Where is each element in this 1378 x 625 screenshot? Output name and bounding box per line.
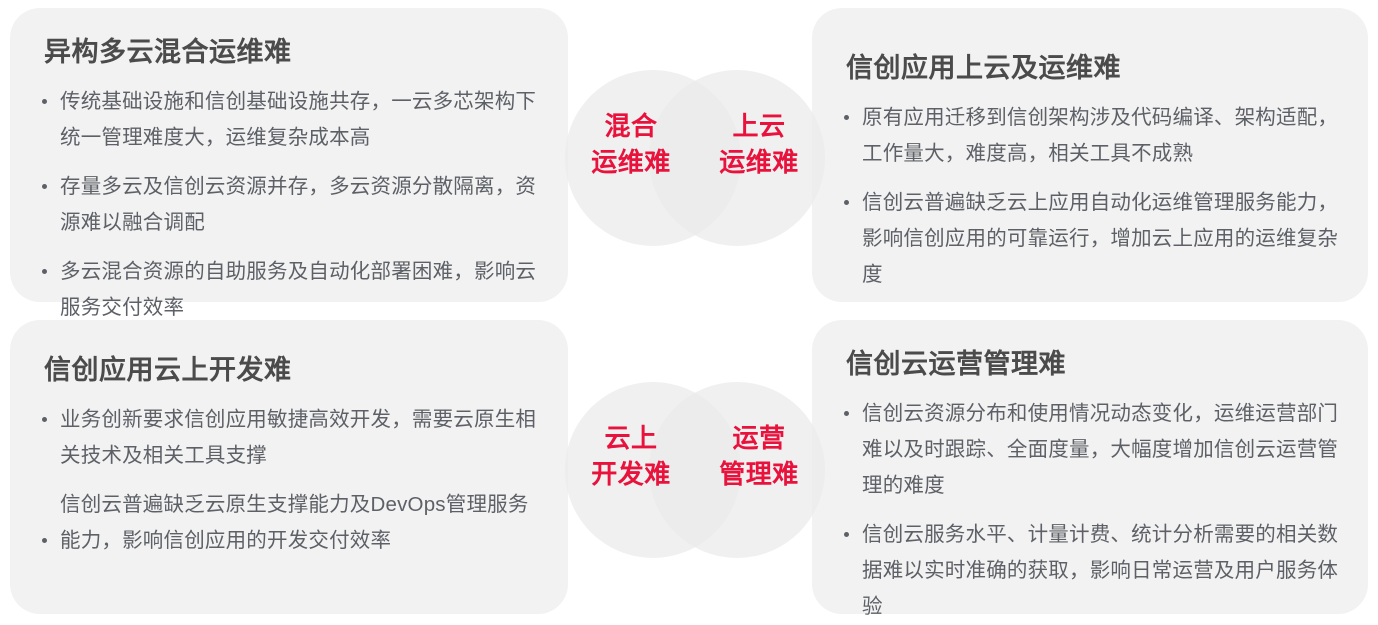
list-item-text: 信创云服务水平、计量计费、统计分析需要的相关数据难以实时准确的获取，影响日常运营… [862,523,1338,618]
list-item: 存量多云及信创云资源并存，多云资源分散隔离，资源难以融合调配 [38,169,546,241]
list-item-text: 业务创新要求信创应用敏捷高效开发，需要云原生相关技术及相关工具支撑 [60,408,536,467]
card-title: 信创云运营管理难 [846,342,1066,381]
venn-label-cloud-development: 云上 开发难 [571,420,691,492]
list-item-text: 信创云普遍缺乏云原生支撑能力及DevOps管理服务能力，影响信创应用的开发交付效… [60,493,529,552]
card-heterogeneous-multicloud-ops: 异构多云混合运维难 传统基础设施和信创基础设施共存，一云多芯架构下统一管理难度大… [10,8,568,302]
card-title: 信创应用上云及运维难 [846,46,1121,85]
bullet-dot-icon [42,269,47,274]
bullet-list: 信创云资源分布和使用情况动态变化，运维运营部门难以及时跟踪、全面度量，大幅度增加… [840,396,1344,625]
venn-label-cloud-migration-ops: 上云 运维难 [699,108,819,180]
venn-label-hybrid-ops: 混合 运维难 [571,108,691,180]
card-title: 异构多云混合运维难 [44,30,292,69]
bullet-list: 业务创新要求信创应用敏捷高效开发，需要云原生相关技术及相关工具支撑 信创云普遍缺… [38,402,546,559]
card-title: 信创应用云上开发难 [44,348,292,387]
list-item: 原有应用迁移到信创架构涉及代码编译、架构适配，工作量大，难度高，相关工具不成熟 [840,100,1344,172]
bullet-dot-icon [42,99,47,104]
bullet-list: 传统基础设施和信创基础设施共存，一云多芯架构下统一管理难度大，运维复杂成本高 存… [38,84,546,326]
list-item: 业务创新要求信创应用敏捷高效开发，需要云原生相关技术及相关工具支撑 [38,402,546,474]
list-item: 信创云普遍缺乏云原生支撑能力及DevOps管理服务能力，影响信创应用的开发交付效… [38,487,546,559]
bullet-dot-icon [844,200,849,205]
list-item: 信创云普遍缺乏云上应用自动化运维管理服务能力，影响信创应用的可靠运行，增加云上应… [840,185,1344,293]
list-item-text: 信创云资源分布和使用情况动态变化，运维运营部门难以及时跟踪、全面度量，大幅度增加… [862,402,1338,497]
venn-diagram-top: 混合 运维难 上云 运维难 [565,70,825,246]
list-item: 信创云资源分布和使用情况动态变化，运维运营部门难以及时跟踪、全面度量，大幅度增加… [840,396,1344,504]
list-item: 信创云服务水平、计量计费、统计分析需要的相关数据难以实时准确的获取，影响日常运营… [840,517,1344,625]
venn-diagram-bottom: 云上 开发难 运营 管理难 [565,382,825,558]
list-item-text: 传统基础设施和信创基础设施共存，一云多芯架构下统一管理难度大，运维复杂成本高 [60,90,536,149]
bullet-dot-icon [42,184,47,189]
bullet-dot-icon [844,532,849,537]
list-item-text: 多云混合资源的自助服务及自动化部署困难，影响云服务交付效率 [60,260,536,319]
card-xinchuang-app-cloud-development: 信创应用云上开发难 业务创新要求信创应用敏捷高效开发，需要云原生相关技术及相关工… [10,320,568,614]
list-item: 多云混合资源的自助服务及自动化部署困难，影响云服务交付效率 [38,254,546,326]
card-xinchuang-app-cloud-migration-ops: 信创应用上云及运维难 原有应用迁移到信创架构涉及代码编译、架构适配，工作量大，难… [812,8,1368,302]
list-item: 传统基础设施和信创基础设施共存，一云多芯架构下统一管理难度大，运维复杂成本高 [38,84,546,156]
venn-label-operations-management: 运营 管理难 [699,420,819,492]
bullet-dot-icon [42,538,47,543]
card-xinchuang-cloud-operations-management: 信创云运营管理难 信创云资源分布和使用情况动态变化，运维运营部门难以及时跟踪、全… [812,320,1368,614]
list-item-text: 原有应用迁移到信创架构涉及代码编译、架构适配，工作量大，难度高，相关工具不成熟 [862,106,1338,165]
bullet-list: 原有应用迁移到信创架构涉及代码编译、架构适配，工作量大，难度高，相关工具不成熟 … [840,100,1344,293]
bullet-dot-icon [844,411,849,416]
list-item-text: 信创云普遍缺乏云上应用自动化运维管理服务能力，影响信创应用的可靠运行，增加云上应… [862,191,1338,286]
bullet-dot-icon [844,115,849,120]
bullet-dot-icon [42,417,47,422]
list-item-text: 存量多云及信创云资源并存，多云资源分散隔离，资源难以融合调配 [60,175,536,234]
